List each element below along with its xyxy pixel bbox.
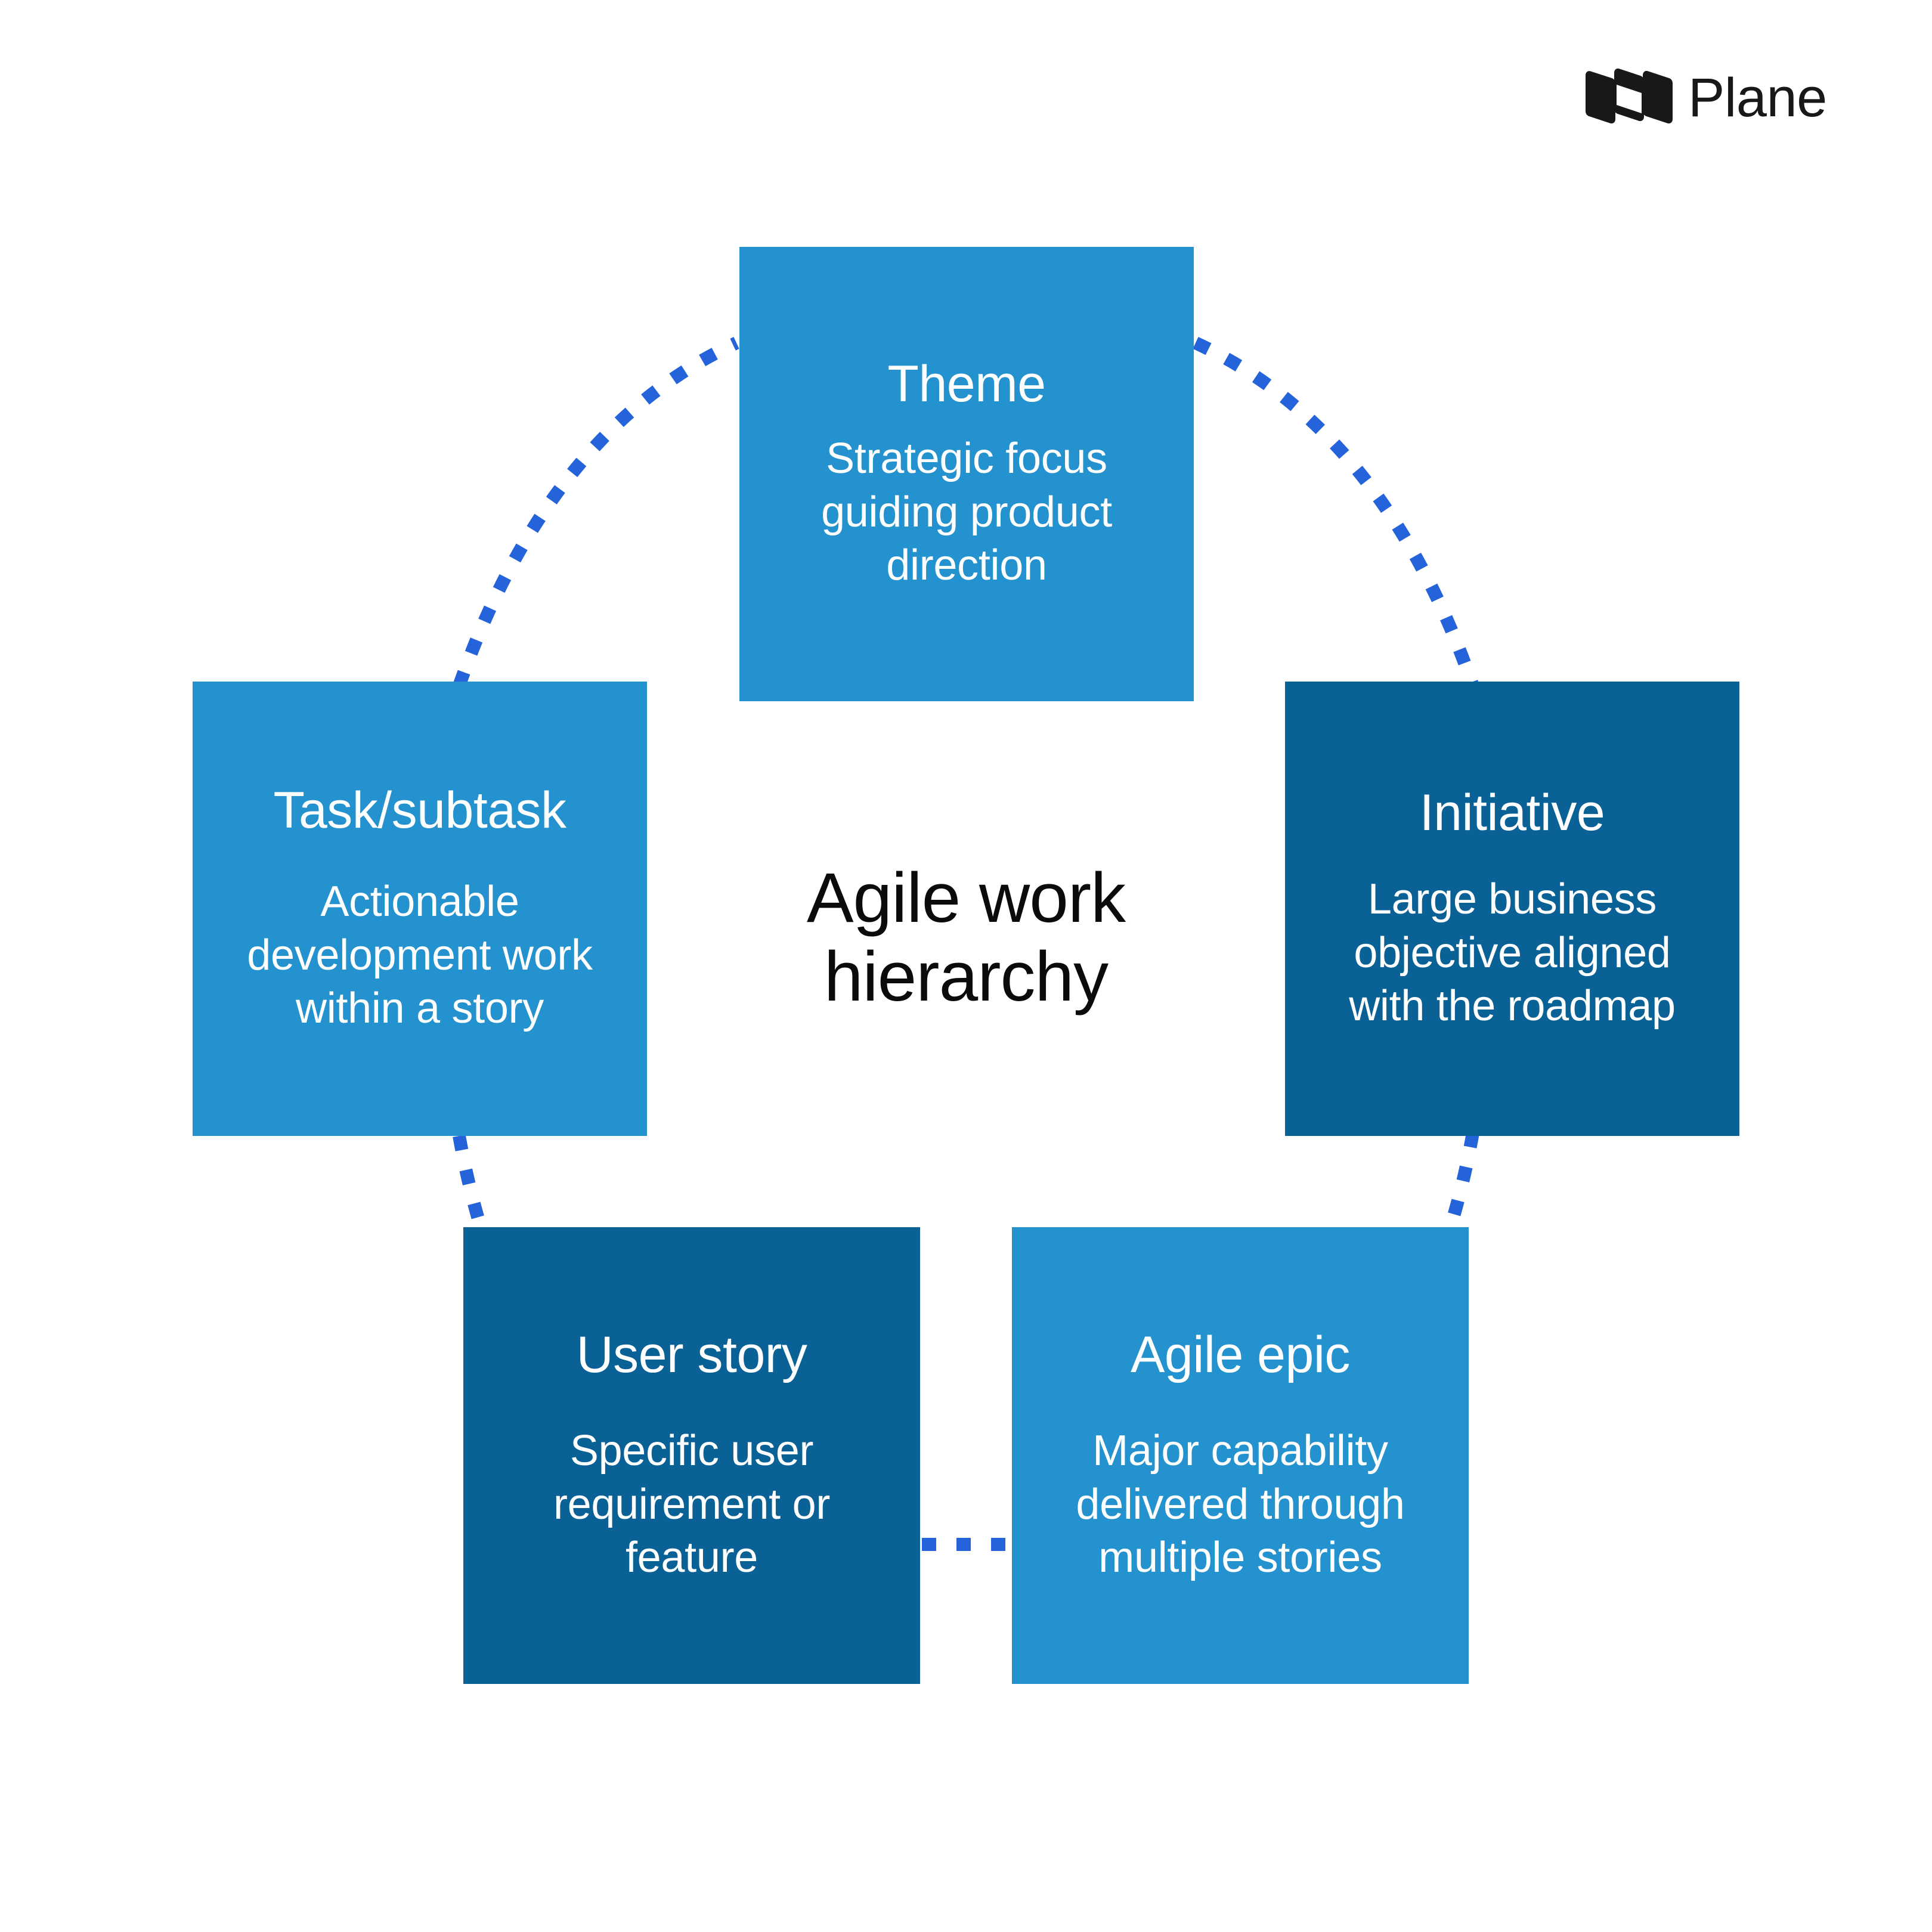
node-agile-epic-description-line-3: multiple stories bbox=[1076, 1531, 1404, 1584]
node-theme-description: Strategic focus guiding product directio… bbox=[821, 432, 1112, 592]
connector-task-to-theme bbox=[459, 343, 736, 686]
node-agile-epic[interactable]: Agile epic Major capability delivered th… bbox=[1012, 1227, 1469, 1684]
node-theme[interactable]: Theme Strategic focus guiding product di… bbox=[739, 247, 1194, 701]
node-user-story[interactable]: User story Specific user requirement or … bbox=[463, 1227, 920, 1684]
diagram-title-line-1: Agile work bbox=[739, 859, 1193, 937]
node-task-subtask[interactable]: Task/subtask Actionable development work… bbox=[193, 682, 647, 1136]
node-theme-title: Theme bbox=[887, 356, 1045, 413]
node-initiative[interactable]: Initiative Large business objective alig… bbox=[1285, 682, 1739, 1136]
diagram-canvas: Plane Agile work hierarchy Theme Strateg… bbox=[0, 0, 1932, 1932]
node-initiative-title: Initiative bbox=[1420, 785, 1605, 841]
node-theme-description-line-3: direction bbox=[821, 539, 1112, 592]
plane-logo-mark-icon bbox=[1583, 67, 1673, 129]
node-user-story-title: User story bbox=[577, 1327, 807, 1383]
node-agile-epic-title: Agile epic bbox=[1131, 1327, 1350, 1383]
node-user-story-description-line-3: feature bbox=[553, 1531, 830, 1584]
diagram-title: Agile work hierarchy bbox=[739, 859, 1193, 1016]
node-initiative-description-line-2: objective aligned bbox=[1349, 927, 1676, 980]
node-agile-epic-description: Major capability delivered through multi… bbox=[1076, 1425, 1404, 1584]
connector-theme-to-initiative bbox=[1196, 343, 1473, 686]
node-task-subtask-description-line-1: Actionable bbox=[247, 875, 593, 928]
node-task-subtask-description-line-3: within a story bbox=[247, 982, 593, 1035]
node-user-story-description-line-1: Specific user bbox=[553, 1425, 830, 1478]
node-user-story-description: Specific user requirement or feature bbox=[553, 1425, 830, 1584]
node-task-subtask-title: Task/subtask bbox=[273, 782, 566, 839]
node-theme-description-line-2: guiding product bbox=[821, 486, 1112, 539]
diagram-title-line-2: hierarchy bbox=[739, 937, 1193, 1016]
node-initiative-description: Large business objective aligned with th… bbox=[1349, 873, 1676, 1033]
node-task-subtask-description-line-2: development work bbox=[247, 929, 593, 982]
node-task-subtask-description: Actionable development work within a sto… bbox=[247, 875, 593, 1035]
node-agile-epic-description-line-1: Major capability bbox=[1076, 1425, 1404, 1478]
node-initiative-description-line-1: Large business bbox=[1349, 873, 1676, 926]
node-initiative-description-line-3: with the roadmap bbox=[1349, 980, 1676, 1033]
plane-logo: Plane bbox=[1583, 67, 1827, 129]
plane-logo-wordmark: Plane bbox=[1688, 70, 1827, 125]
node-user-story-description-line-2: requirement or bbox=[553, 1478, 830, 1531]
node-agile-epic-description-line-2: delivered through bbox=[1076, 1478, 1404, 1531]
node-theme-description-line-1: Strategic focus bbox=[821, 432, 1112, 485]
